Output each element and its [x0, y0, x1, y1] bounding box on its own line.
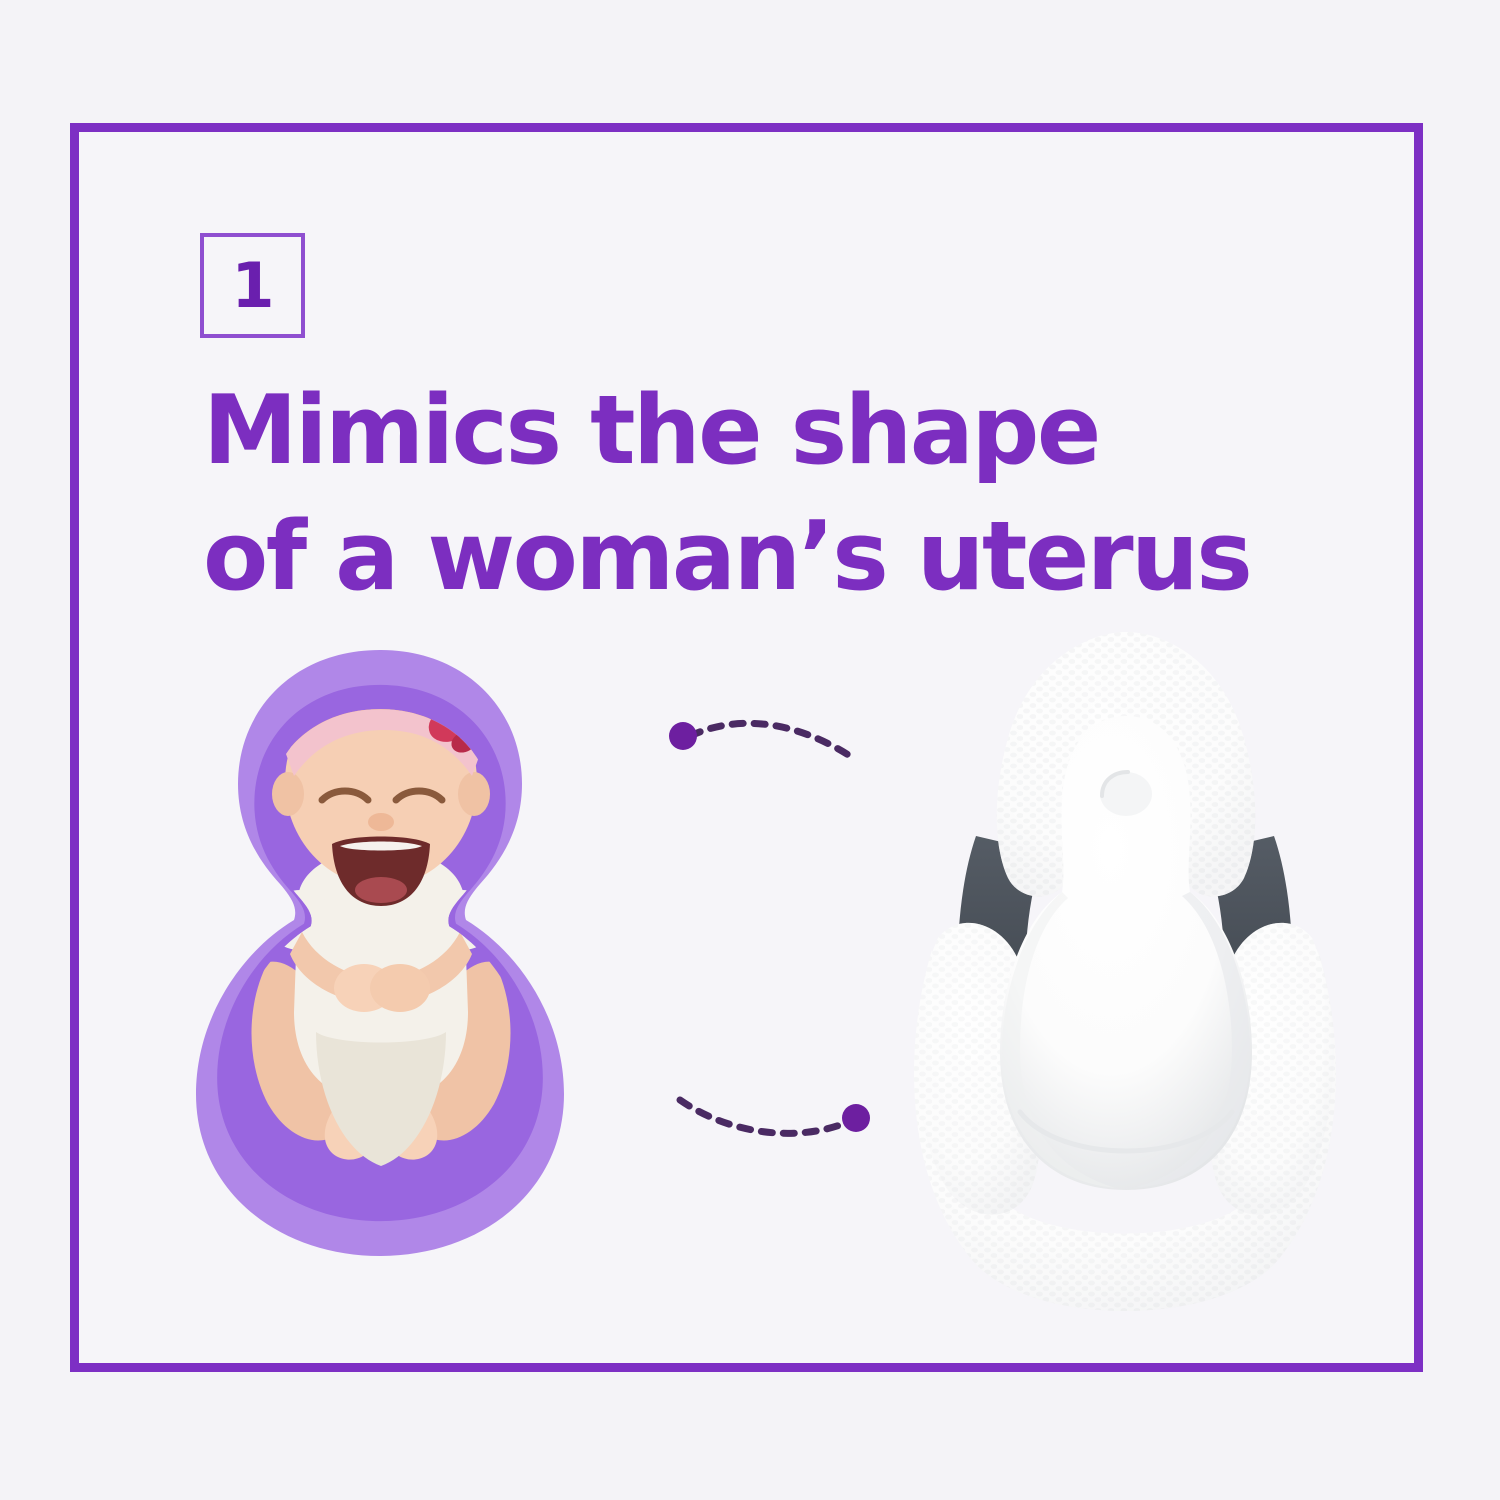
baby-tongue — [355, 877, 407, 903]
womb-illustration — [150, 632, 610, 1272]
connector-dot-bottom — [842, 1104, 870, 1132]
step-number-text: 1 — [231, 255, 273, 317]
connector-group — [650, 690, 890, 1160]
dotted-curve-bottom — [680, 1100, 848, 1133]
dotted-curve-top — [690, 723, 850, 756]
page-title: Mimics the shape of a woman’s uterus — [203, 368, 1303, 621]
baby-right-ear — [458, 772, 490, 816]
connector-lines-graphic — [650, 690, 890, 1160]
baby-left-ear — [272, 772, 304, 816]
womb-shape-graphic — [150, 632, 610, 1272]
baby-right-hand — [370, 964, 430, 1012]
page-title-line-2: of a woman’s uterus — [203, 494, 1303, 620]
page-title-line-1: Mimics the shape — [203, 368, 1303, 494]
infographic-stage: 1 Mimics the shape of a woman’s uterus — [0, 0, 1500, 1500]
baby-lounger-graphic — [880, 620, 1370, 1330]
baby-nose — [368, 813, 394, 831]
connector-dot-top — [669, 722, 697, 750]
product-image — [880, 620, 1370, 1330]
step-number-badge: 1 — [200, 233, 305, 338]
